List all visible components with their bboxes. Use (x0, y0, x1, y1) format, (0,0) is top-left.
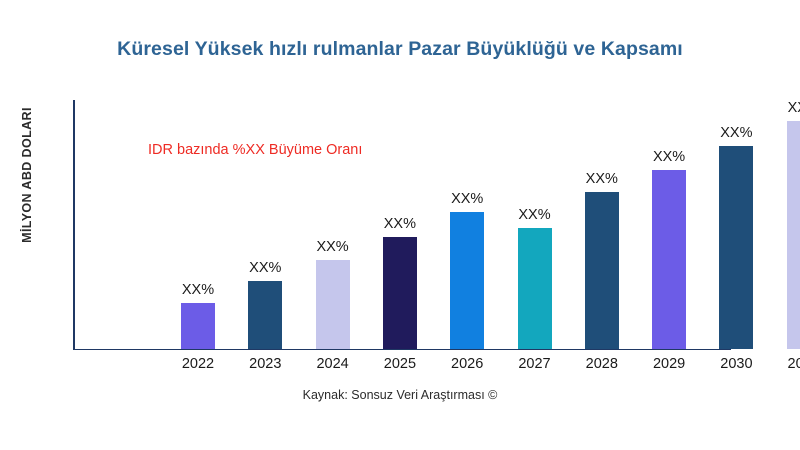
x-axis-line (73, 349, 731, 351)
y-axis-label: MİLYON ABD DOLARI (20, 107, 34, 243)
bars-container: XX%XX%XX%XX%XX%XX%XX%XX%XX%XX% (73, 101, 800, 349)
bar-2022[interactable] (181, 303, 215, 349)
bar-2029[interactable] (652, 170, 686, 349)
bar-value-label-2030: XX% (705, 125, 767, 141)
bar-2026[interactable] (450, 212, 484, 349)
bar-value-label-2025: XX% (369, 216, 431, 232)
x-axis-tick-2023: 2023 (230, 356, 300, 372)
plot-area: XX%XX%XX%XX%XX%XX%XX%XX%XX%XX% (73, 100, 731, 350)
x-axis-tick-2022: 2022 (163, 356, 233, 372)
chart-title: Küresel Yüksek hızlı rulmanlar Pazar Büy… (0, 38, 800, 61)
x-axis-tick-2031: 2031 (769, 356, 800, 372)
bar-2023[interactable] (248, 281, 282, 349)
bar-value-label-2024: XX% (302, 239, 364, 255)
bar-group-2025[interactable]: XX% (383, 101, 417, 349)
bar-group-2023[interactable]: XX% (248, 101, 282, 349)
bar-group-2022[interactable]: XX% (181, 101, 215, 349)
bar-group-2031[interactable]: XX% (787, 101, 800, 349)
bar-group-2026[interactable]: XX% (450, 101, 484, 349)
bar-group-2029[interactable]: XX% (652, 101, 686, 349)
bar-2031[interactable] (787, 121, 800, 349)
bar-value-label-2031: XX% (773, 100, 800, 116)
x-axis-tick-2025: 2025 (365, 356, 435, 372)
x-axis-tick-2028: 2028 (567, 356, 637, 372)
bar-2024[interactable] (316, 260, 350, 349)
x-axis-tick-2029: 2029 (634, 356, 704, 372)
bar-group-2030[interactable]: XX% (719, 101, 753, 349)
bar-value-label-2028: XX% (571, 171, 633, 187)
x-axis-tick-2027: 2027 (500, 356, 570, 372)
bar-group-2027[interactable]: XX% (518, 101, 552, 349)
bar-value-label-2029: XX% (638, 149, 700, 165)
bar-value-label-2027: XX% (504, 207, 566, 223)
x-axis-tick-2030: 2030 (701, 356, 771, 372)
bar-value-label-2026: XX% (436, 191, 498, 207)
growth-rate-annotation: IDR bazında %XX Büyüme Oranı (148, 142, 362, 158)
bar-value-label-2023: XX% (234, 260, 296, 276)
y-axis-label-container: MİLYON ABD DOLARI (14, 60, 40, 290)
x-axis-tick-2024: 2024 (298, 356, 368, 372)
bar-2030[interactable] (719, 146, 753, 349)
bar-value-label-2022: XX% (167, 282, 229, 298)
source-caption: Kaynak: Sonsuz Veri Araştırması © (0, 388, 800, 402)
bar-group-2024[interactable]: XX% (316, 101, 350, 349)
bar-2027[interactable] (518, 228, 552, 349)
bar-2028[interactable] (585, 192, 619, 349)
bar-2025[interactable] (383, 237, 417, 349)
bar-chart: Küresel Yüksek hızlı rulmanlar Pazar Büy… (0, 0, 800, 450)
x-axis-tick-2026: 2026 (432, 356, 502, 372)
x-axis-tick-labels: 2022202320242025202620272028202920302031 (0, 356, 800, 378)
bar-group-2028[interactable]: XX% (585, 101, 619, 349)
